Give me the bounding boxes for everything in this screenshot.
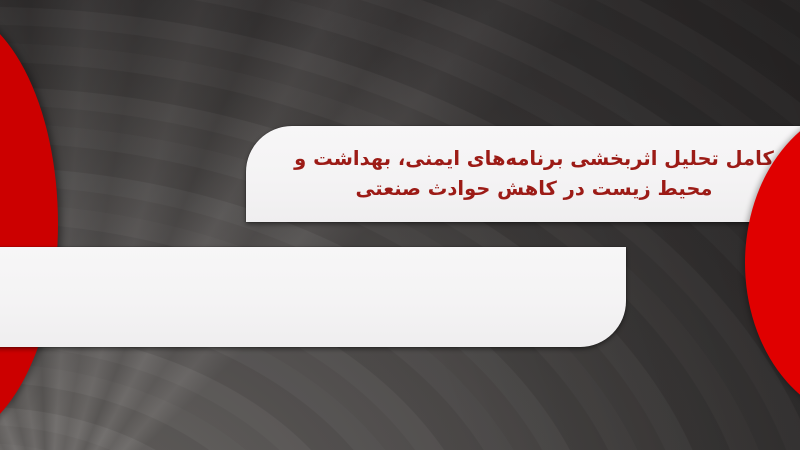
presentation-slide: کامل تحلیل اثربخشی برنامه‌های ایمنی، بهد… <box>0 0 800 450</box>
subtitle-panel <box>0 247 626 347</box>
slide-title: کامل تحلیل اثربخشی برنامه‌های ایمنی، بهد… <box>286 144 788 204</box>
title-panel: کامل تحلیل اثربخشی برنامه‌های ایمنی، بهد… <box>246 126 800 222</box>
background-vignette <box>0 0 800 450</box>
